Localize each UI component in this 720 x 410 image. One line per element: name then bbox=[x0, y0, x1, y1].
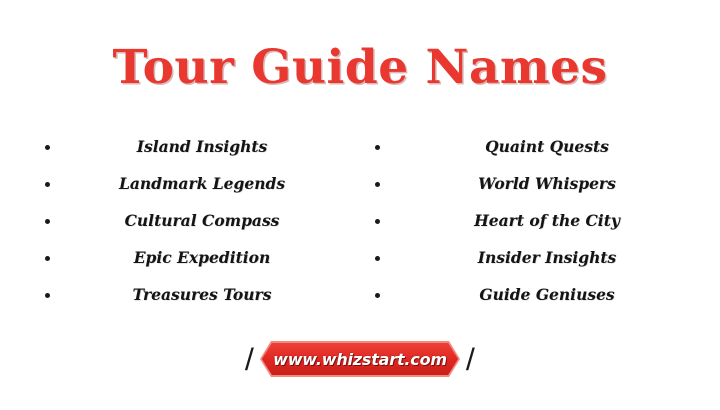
website-url-label: www.whizstart.com bbox=[273, 350, 447, 369]
slash-left-icon: / bbox=[245, 344, 254, 375]
list-item: Heart of the City bbox=[360, 202, 720, 239]
bullet-dot-icon bbox=[375, 256, 380, 261]
list-item-label: Treasures Tours bbox=[0, 285, 360, 304]
bullet-dot-icon bbox=[45, 256, 50, 261]
name-list-columns: Island Insights Landmark Legends Cultura… bbox=[0, 128, 720, 313]
website-badge: / www.whizstart.com / bbox=[0, 334, 720, 384]
slash-right-icon: / bbox=[466, 344, 475, 375]
list-item-label: Insider Insights bbox=[360, 248, 720, 267]
left-column: Island Insights Landmark Legends Cultura… bbox=[0, 128, 360, 313]
bullet-dot-icon bbox=[375, 219, 380, 224]
page-title: Tour Guide Names bbox=[0, 40, 720, 96]
bullet-dot-icon bbox=[375, 293, 380, 298]
list-item: Island Insights bbox=[0, 128, 360, 165]
list-item: Guide Geniuses bbox=[360, 276, 720, 313]
list-item: Insider Insights bbox=[360, 239, 720, 276]
list-item-label: Guide Geniuses bbox=[360, 285, 720, 304]
list-item: Epic Expedition bbox=[0, 239, 360, 276]
bullet-dot-icon bbox=[45, 182, 50, 187]
bullet-dot-icon bbox=[45, 293, 50, 298]
right-column: Quaint Quests World Whispers Heart of th… bbox=[360, 128, 720, 313]
list-item-label: Island Insights bbox=[0, 137, 360, 156]
list-item-label: Epic Expedition bbox=[0, 248, 360, 267]
website-badge-shape[interactable]: www.whizstart.com bbox=[260, 341, 460, 377]
list-item-label: Landmark Legends bbox=[0, 174, 360, 193]
list-item: Treasures Tours bbox=[0, 276, 360, 313]
bullet-dot-icon bbox=[45, 219, 50, 224]
poster-canvas: Tour Guide Names Island Insights Landmar… bbox=[0, 0, 720, 410]
list-item-label: Quaint Quests bbox=[360, 137, 720, 156]
bullet-dot-icon bbox=[375, 182, 380, 187]
list-item: Quaint Quests bbox=[360, 128, 720, 165]
list-item-label: Heart of the City bbox=[360, 211, 720, 230]
list-item: Cultural Compass bbox=[0, 202, 360, 239]
list-item-label: Cultural Compass bbox=[0, 211, 360, 230]
list-item: World Whispers bbox=[360, 165, 720, 202]
list-item-label: World Whispers bbox=[360, 174, 720, 193]
bullet-dot-icon bbox=[45, 145, 50, 150]
bullet-dot-icon bbox=[375, 145, 380, 150]
list-item: Landmark Legends bbox=[0, 165, 360, 202]
